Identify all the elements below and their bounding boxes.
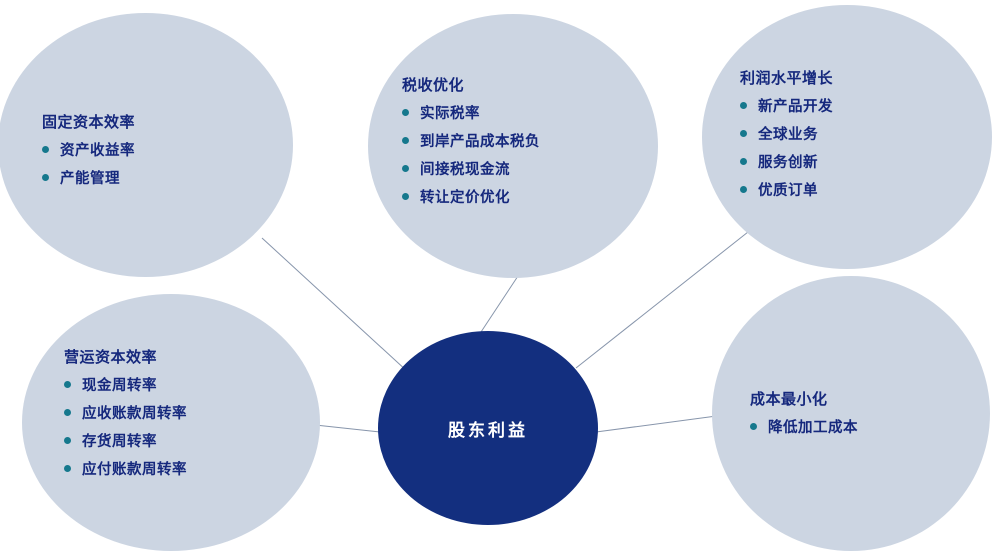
bubble-title: 固定资本效率 — [42, 111, 293, 132]
bullet-dot-icon — [64, 465, 71, 472]
list-item-label: 优质订单 — [758, 179, 818, 200]
list-item: 间接税现金流 — [402, 158, 658, 179]
bullet-dot-icon — [740, 186, 747, 193]
bullet-dot-icon — [42, 146, 49, 153]
list-item: 服务创新 — [740, 151, 992, 172]
list-item: 资产收益率 — [42, 139, 293, 160]
connector-cost-minimization-to-hub — [596, 415, 724, 432]
bubble-content: 利润水平增长 新产品开发 全球业务 服务创新 优质订单 — [740, 67, 992, 207]
list-item: 应付账款周转率 — [64, 458, 320, 479]
bullet-dot-icon — [64, 381, 71, 388]
list-item: 存货周转率 — [64, 430, 320, 451]
bubble-fixed-capital-efficiency[interactable]: 固定资本效率 资产收益率 产能管理 — [0, 13, 293, 277]
list-item-label: 应付账款周转率 — [82, 458, 187, 479]
bullet-dot-icon — [402, 137, 409, 144]
shareholder-value-diagram: 固定资本效率 资产收益率 产能管理 税收优化 实际税率 — [0, 0, 997, 551]
bubble-working-capital-efficiency[interactable]: 营运资本效率 现金周转率 应收账款周转率 存货周转率 应付账款周转率 — [22, 294, 320, 551]
bullet-list: 实际税率 到岸产品成本税负 间接税现金流 转让定价优化 — [402, 102, 658, 207]
list-item: 转让定价优化 — [402, 186, 658, 207]
bullet-list: 资产收益率 产能管理 — [42, 139, 293, 188]
bullet-dot-icon — [750, 423, 757, 430]
bubble-title: 利润水平增长 — [740, 67, 992, 88]
list-item-label: 现金周转率 — [82, 374, 157, 395]
list-item: 到岸产品成本税负 — [402, 130, 658, 151]
list-item: 产能管理 — [42, 167, 293, 188]
bullet-list: 降低加工成本 — [750, 416, 990, 437]
bubble-content: 营运资本效率 现金周转率 应收账款周转率 存货周转率 应付账款周转率 — [64, 346, 320, 486]
list-item: 应收账款周转率 — [64, 402, 320, 423]
list-item-label: 应收账款周转率 — [82, 402, 187, 423]
bubble-content: 成本最小化 降低加工成本 — [750, 388, 990, 444]
list-item-label: 服务创新 — [758, 151, 818, 172]
connector-tax-optimization-to-hub — [481, 276, 518, 332]
list-item-label: 实际税率 — [420, 102, 480, 123]
list-item-label: 资产收益率 — [60, 139, 135, 160]
list-item-label: 到岸产品成本税负 — [420, 130, 540, 151]
bubble-title: 成本最小化 — [750, 388, 990, 409]
hub-shareholder-value[interactable]: 股东利益 — [378, 331, 598, 525]
list-item-label: 产能管理 — [60, 167, 120, 188]
bullet-dot-icon — [740, 158, 747, 165]
bullet-list: 现金周转率 应收账款周转率 存货周转率 应付账款周转率 — [64, 374, 320, 479]
list-item-label: 全球业务 — [758, 123, 818, 144]
list-item: 优质订单 — [740, 179, 992, 200]
bullet-dot-icon — [402, 193, 409, 200]
list-item-label: 存货周转率 — [82, 430, 157, 451]
bullet-dot-icon — [402, 165, 409, 172]
list-item-label: 间接税现金流 — [420, 158, 510, 179]
bubble-tax-optimization[interactable]: 税收优化 实际税率 到岸产品成本税负 间接税现金流 转让定价优化 — [368, 14, 658, 278]
list-item-label: 新产品开发 — [758, 95, 833, 116]
hub-label: 股东利益 — [448, 416, 528, 441]
list-item-label: 降低加工成本 — [768, 416, 858, 437]
bullet-dot-icon — [64, 437, 71, 444]
list-item-label: 转让定价优化 — [420, 186, 510, 207]
bubble-content: 固定资本效率 资产收益率 产能管理 — [42, 111, 293, 195]
bubble-profit-growth[interactable]: 利润水平增长 新产品开发 全球业务 服务创新 优质订单 — [702, 5, 992, 269]
bubble-content: 税收优化 实际税率 到岸产品成本税负 间接税现金流 转让定价优化 — [402, 74, 658, 214]
bullet-list: 新产品开发 全球业务 服务创新 优质订单 — [740, 95, 992, 200]
list-item: 降低加工成本 — [750, 416, 990, 437]
bubble-cost-minimization[interactable]: 成本最小化 降低加工成本 — [712, 276, 990, 551]
bubble-title: 营运资本效率 — [64, 346, 320, 367]
bullet-dot-icon — [740, 102, 747, 109]
list-item: 新产品开发 — [740, 95, 992, 116]
bullet-dot-icon — [402, 109, 409, 116]
list-item: 实际税率 — [402, 102, 658, 123]
connector-profit-growth-to-hub — [576, 232, 748, 368]
bullet-dot-icon — [64, 409, 71, 416]
list-item: 现金周转率 — [64, 374, 320, 395]
bubble-title: 税收优化 — [402, 74, 658, 95]
bullet-dot-icon — [42, 174, 49, 181]
bullet-dot-icon — [740, 130, 747, 137]
list-item: 全球业务 — [740, 123, 992, 144]
